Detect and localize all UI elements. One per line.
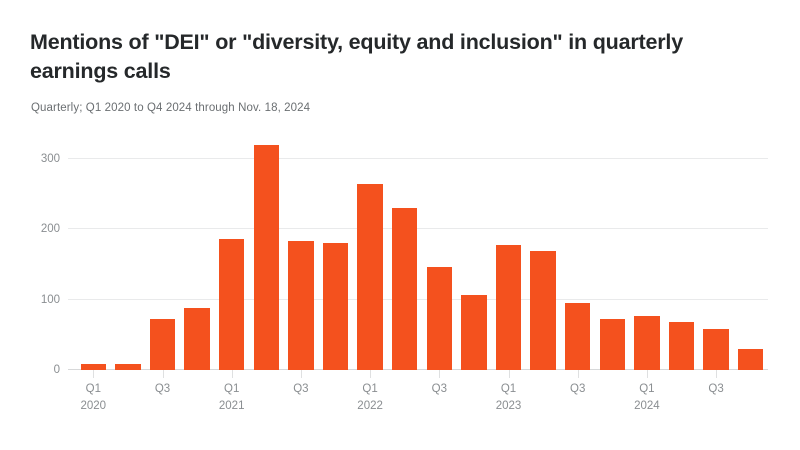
bar[interactable] — [288, 241, 313, 370]
x-tick-mark — [163, 370, 164, 378]
x-tick-label: Q12021 — [219, 381, 245, 414]
bar[interactable] — [565, 303, 590, 370]
x-tick-mark — [578, 370, 579, 378]
x-tick-mark — [647, 370, 648, 378]
x-tick-label: Q12024 — [634, 381, 660, 414]
x-tick-label: Q3 — [570, 381, 585, 398]
bar[interactable] — [461, 295, 486, 370]
x-tick-year: 2020 — [81, 398, 107, 415]
x-tick-mark — [93, 370, 94, 378]
x-tick-label: Q3 — [432, 381, 447, 398]
chart-subtitle: Quarterly; Q1 2020 to Q4 2024 through No… — [31, 102, 766, 114]
bar[interactable] — [323, 243, 348, 370]
y-tick-label: 300 — [8, 153, 60, 165]
x-tick-year: 2023 — [496, 398, 522, 415]
x-tick-year: 2021 — [219, 398, 245, 415]
bar[interactable] — [703, 329, 728, 370]
x-tick-label: Q3 — [155, 381, 170, 398]
x-tick-mark — [439, 370, 440, 378]
x-tick-mark — [232, 370, 233, 378]
x-tick-label: Q12020 — [81, 381, 107, 414]
bar[interactable] — [357, 184, 382, 370]
bar[interactable] — [738, 349, 763, 370]
plot-area: 0100200300 — [76, 138, 768, 370]
bar[interactable] — [427, 267, 452, 370]
x-tick-label: Q12023 — [496, 381, 522, 414]
x-tick-label: Q12022 — [357, 381, 383, 414]
bar-series — [76, 138, 768, 370]
x-tick-mark — [301, 370, 302, 378]
bar[interactable] — [184, 308, 209, 370]
chart-page: Mentions of "DEI" or "diversity, equity … — [0, 0, 800, 450]
bar[interactable] — [254, 145, 279, 370]
y-tick-label: 200 — [8, 223, 60, 235]
x-tick-mark — [509, 370, 510, 378]
y-tick-label: 0 — [8, 364, 60, 376]
bar[interactable] — [219, 239, 244, 370]
bar[interactable] — [669, 322, 694, 370]
bar[interactable] — [150, 319, 175, 370]
x-tick-year: 2022 — [357, 398, 383, 415]
x-tick-mark — [716, 370, 717, 378]
y-tick-label: 100 — [8, 294, 60, 306]
bar[interactable] — [530, 251, 555, 371]
page-title: Mentions of "DEI" or "diversity, equity … — [30, 28, 766, 86]
x-tick-year: 2024 — [634, 398, 660, 415]
x-tick-mark — [370, 370, 371, 378]
bar[interactable] — [600, 319, 625, 370]
chart-header: Mentions of "DEI" or "diversity, equity … — [0, 0, 800, 114]
bar[interactable] — [496, 245, 521, 370]
chart-plot-wrapper: 0100200300 Q12020Q3Q12021Q3Q12022Q3Q1202… — [0, 138, 800, 428]
bar[interactable] — [392, 208, 417, 370]
x-tick-label: Q3 — [293, 381, 308, 398]
x-axis: Q12020Q3Q12021Q3Q12022Q3Q12023Q3Q12024Q3 — [76, 370, 768, 428]
x-tick-label: Q3 — [708, 381, 723, 398]
bar[interactable] — [634, 316, 659, 370]
